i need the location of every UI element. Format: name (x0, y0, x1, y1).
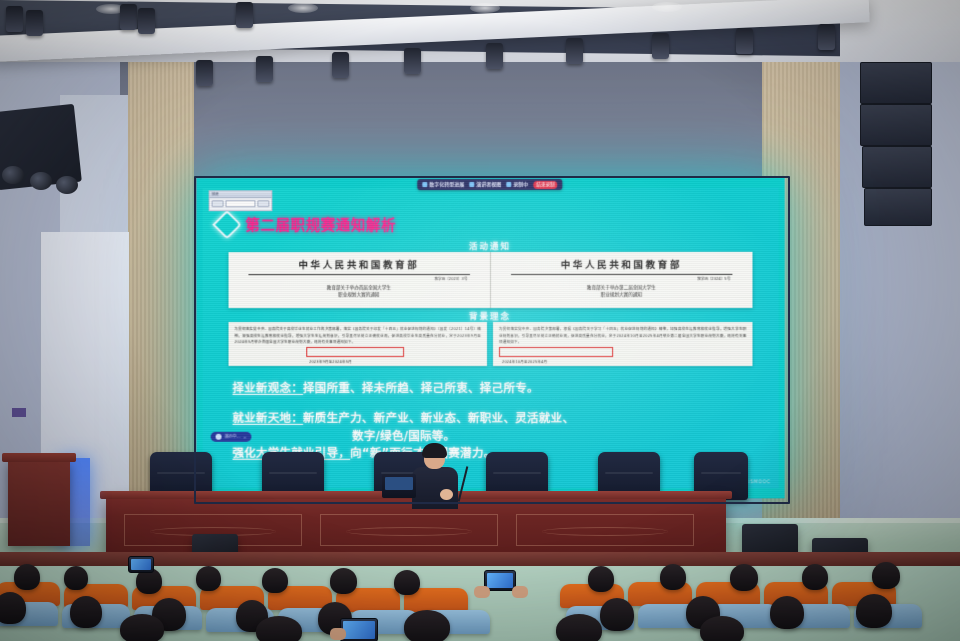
document-pair: 中华人民共和国教育部 教学函〔2023〕3号 教育部关于举办首届全国大学生 职业… (229, 252, 753, 308)
speaker-horn (30, 172, 52, 190)
toolbar-item-1[interactable]: 演讲者视图 (469, 181, 501, 188)
speaker-horn (2, 166, 24, 184)
ceiling-light-glow (470, 3, 500, 13)
paragraph-text: 为贯彻落实党中央、国务院决策部署，根据《国务院关于学习「十四五」就业促进规划的通… (499, 326, 746, 346)
bullet-text: 择国所重、择未所趋、择己所衷、择己所专。 (303, 381, 539, 395)
wall-sign (12, 408, 26, 417)
bullet-line: 就业新天地：新质生产力、新产业、新业态、新职业、灵活就业、 (233, 410, 753, 428)
stage-spotlight (404, 48, 421, 74)
highlight-box: 2024年10月至2025年4月 (499, 347, 613, 357)
table-panel (516, 514, 694, 546)
line-array-speaker-right (864, 188, 932, 226)
chat-label: 演示中... (225, 434, 241, 440)
document-subject-line: 职业规划大赛的通知 (499, 293, 745, 300)
paragraph-card: 为贯彻落实党中央、国务院决策部署，根据《国务院关于学习「十四五」就业促进规划的通… (493, 322, 753, 366)
stage-spotlight (818, 24, 835, 50)
podium-top (2, 453, 76, 462)
slide-field[interactable] (226, 200, 256, 207)
slide-bullets: 择业新观念：择国所重、择未所趋、择己所衷、择己所专。 就业新天地：新质生产力、新… (233, 380, 753, 464)
audience-person (556, 614, 602, 641)
stage-spotlight (236, 2, 253, 28)
stage-spotlight (6, 6, 23, 32)
highlight-date: 2024年10月至2025年4月 (500, 360, 547, 364)
auditorium-photo: 数字化转型进展 演讲者视图 录制中 结束录制 放映 (0, 0, 960, 641)
toolbar-label: 录制中 (513, 181, 528, 188)
table-panel (320, 514, 498, 546)
audience-person (872, 562, 900, 589)
stage-spotlight (652, 33, 669, 59)
line-array-speaker-right (860, 104, 932, 146)
stage-spotlight (196, 60, 213, 86)
toolbar-label: 数字化转型进展 (429, 181, 464, 188)
toolbar-item-0[interactable]: 数字化转型进展 (422, 181, 464, 188)
audience-area (0, 552, 960, 641)
close-icon[interactable]: × (243, 434, 246, 439)
document-org: 中华人民共和国教育部 (499, 257, 745, 271)
audience-person (394, 570, 420, 595)
audience-person (14, 564, 40, 590)
highlight-box: 2023年9月至2024年5月 (306, 347, 404, 357)
audience-person (660, 564, 686, 590)
document-subject: 教育部关于举办首届全国大学生 职业规划大赛的通知 (236, 286, 481, 300)
mini-window-titlebar: 放映 (210, 191, 272, 198)
audience-person (64, 566, 88, 590)
audience-person (0, 592, 26, 624)
line-array-speaker-right (860, 62, 932, 104)
led-video-wall[interactable]: 数字化转型进展 演讲者视图 录制中 结束录制 放映 (197, 178, 785, 499)
line-array-speaker-right (862, 146, 932, 188)
ceiling-light-glow (652, 2, 682, 12)
mini-window-body (210, 198, 272, 209)
bullet-line: 择业新观念：择国所重、择未所趋、择己所衷、择己所专。 (233, 380, 753, 398)
audience-person (404, 610, 450, 641)
chart-icon (422, 182, 427, 187)
document-card: 中华人民共和国教育部 教学函〔2024〕5号 教育部关于举办第二届全国大学生 职… (490, 252, 753, 308)
audience-hand (474, 586, 490, 598)
audience-person (330, 568, 357, 594)
divider (511, 274, 733, 275)
audience-person (262, 568, 288, 593)
presenter-mini-window[interactable]: 放映 (209, 190, 273, 211)
audience-person (196, 566, 221, 591)
slide-title: 第二届职规赛通知解析 (245, 214, 396, 235)
stage-spotlight (736, 28, 753, 54)
prev-slide-button[interactable] (212, 200, 224, 207)
presentation-slide: 数字化转型进展 演讲者视图 录制中 结束录制 放映 (203, 188, 779, 489)
section-label-notice: 活动通知 (469, 240, 511, 252)
stage-spotlight (26, 10, 43, 36)
audience-person (256, 616, 302, 641)
stage-podium (8, 460, 70, 546)
smartphone-recording[interactable] (340, 618, 378, 641)
stage-spotlight (566, 38, 583, 64)
presenter-chat-widget[interactable]: 演示中... × (211, 432, 252, 442)
presenter-laptop (382, 474, 416, 498)
section-label-background: 背景理念 (469, 310, 511, 322)
presentation-toolbar[interactable]: 数字化转型进展 演讲者视图 录制中 结束录制 (417, 179, 562, 190)
presenter-torso (412, 467, 458, 509)
end-record-button[interactable]: 结束录制 (533, 180, 557, 188)
bullet-text: 新质生产力、新产业、新业态、新职业、灵活就业、 (303, 411, 574, 425)
document-card: 中华人民共和国教育部 教学函〔2023〕3号 教育部关于举办首届全国大学生 职业… (229, 252, 490, 308)
stage-spotlight (138, 8, 155, 34)
document-org: 中华人民共和国教育部 (236, 257, 481, 271)
wood-panel-left (128, 56, 194, 516)
stage-spotlight (486, 43, 503, 69)
slide-header: 第二届职规赛通知解析 (217, 214, 396, 235)
background-paragraphs: 为贯彻落实党中央、国务院关于高校毕业生就业工作的决策部署，落实《国务院关于印发「… (229, 322, 753, 366)
toolbar-label: 演讲者视图 (476, 181, 501, 188)
presenter-hair (422, 443, 447, 458)
audience-person (600, 598, 634, 631)
paragraph-text: 为贯彻落实党中央、国务院关于高校毕业生就业工作的决策部署，落实《国务院关于印发「… (235, 326, 481, 346)
people-icon (469, 182, 474, 187)
stage-spotlight (120, 4, 137, 30)
audience-person (802, 564, 828, 590)
audience-hand (330, 628, 346, 640)
smartphone-recording[interactable] (128, 556, 154, 573)
watermark-brand: AiSMOOC (745, 480, 771, 485)
toolbar-item-2[interactable]: 录制中 (506, 181, 528, 188)
ceiling-light-glow (288, 3, 318, 13)
document-subject-line: 职业规划大赛的通知 (236, 293, 481, 300)
stage-spotlight (332, 52, 349, 78)
audience-person (856, 594, 892, 628)
document-subject: 教育部关于举办第二届全国大学生 职业规划大赛的通知 (499, 286, 745, 300)
audience-person (70, 596, 102, 628)
highlight-date: 2023年9月至2024年5月 (307, 360, 352, 364)
stage-spotlight (256, 56, 273, 82)
audience-person (120, 614, 164, 641)
bullet-key: 择业新观念： (233, 381, 304, 395)
record-icon (506, 182, 511, 187)
audience-person (730, 564, 758, 591)
document-number: 教学函〔2024〕5号 (499, 277, 731, 282)
audience-person (700, 616, 744, 641)
bullet-continuation: 数字/绿色/国际等。 (233, 427, 753, 445)
audience-hand (512, 586, 528, 598)
diamond-outline-icon (212, 210, 242, 240)
paragraph-card: 为贯彻落实党中央、国务院关于高校毕业生就业工作的决策部署，落实《国务院关于印发「… (229, 322, 487, 366)
speaker-horn (56, 176, 78, 194)
document-number: 教学函〔2023〕3号 (236, 277, 467, 282)
audience-person (770, 596, 804, 629)
chat-icon (216, 434, 222, 440)
next-slide-button[interactable] (257, 200, 269, 207)
bullet-key: 就业新天地： (233, 411, 304, 425)
divider (248, 274, 469, 275)
presenter-hand (440, 489, 453, 500)
audience-person (588, 566, 614, 592)
